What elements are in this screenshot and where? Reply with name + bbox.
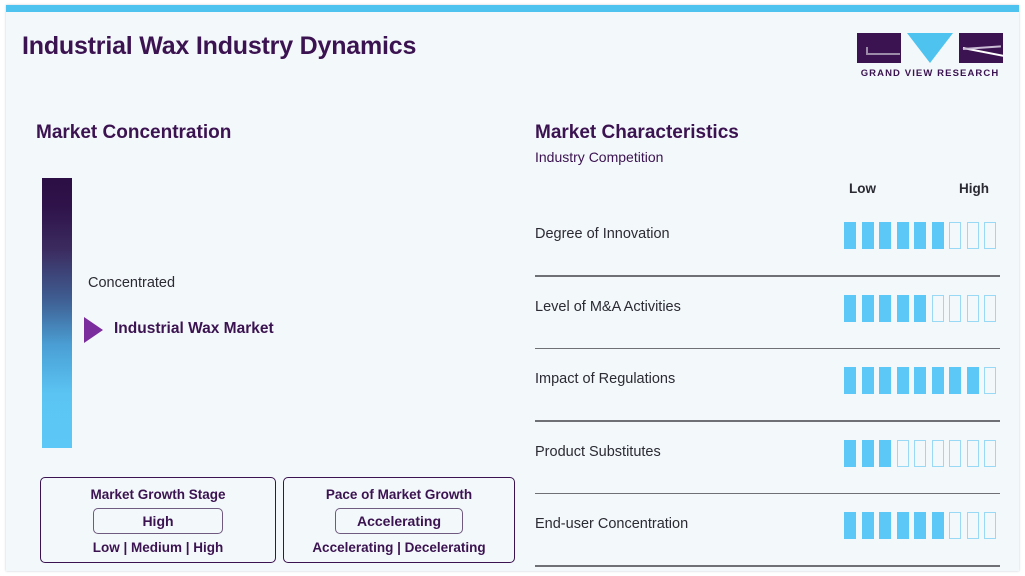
- meter-segment-filled: [862, 440, 874, 467]
- meter-segment-filled: [967, 367, 979, 394]
- characteristic-meter: [844, 440, 996, 467]
- meter-segment-empty: [984, 367, 996, 394]
- logo-block-right-icon: [959, 33, 1003, 63]
- grand-view-research-logo: GRAND VIEW RESEARCH: [857, 33, 1003, 85]
- characteristic-label: Product Substitutes: [535, 444, 661, 460]
- scale-label-concentrated: Concentrated: [88, 275, 175, 291]
- logo-horizontal-line: [866, 53, 900, 55]
- meter-segment-empty: [949, 440, 961, 467]
- market-concentration-panel: Market Concentration Concentrated Fragme…: [6, 100, 516, 571]
- concentration-gradient-scale: [42, 178, 72, 448]
- meter-segment-filled: [897, 367, 909, 394]
- meter-segment-filled: [897, 295, 909, 322]
- meter-segment-empty: [932, 295, 944, 322]
- meter-scale-high-label: High: [959, 181, 989, 196]
- meter-segment-empty: [897, 440, 909, 467]
- meter-segment-empty: [914, 440, 926, 467]
- characteristic-label: Degree of Innovation: [535, 226, 670, 242]
- meter-segment-filled: [879, 222, 891, 249]
- market-growth-stage-value: High: [93, 508, 223, 534]
- characteristic-row: End-user Concentration: [516, 494, 1019, 567]
- pace-of-market-growth-box: Pace of Market Growth Accelerating Accel…: [283, 477, 515, 563]
- meter-segment-filled: [897, 512, 909, 539]
- meter-segment-filled: [914, 512, 926, 539]
- meter-segment-filled: [862, 222, 874, 249]
- market-growth-stage-scale: Low | Medium | High: [41, 540, 275, 555]
- logo-triangle-icon: [907, 33, 953, 63]
- characteristic-row: Degree of Innovation: [516, 204, 1019, 277]
- meter-segment-filled: [932, 512, 944, 539]
- logo-block-left-icon: [857, 33, 901, 63]
- meter-segment-filled: [879, 367, 891, 394]
- meter-segment-filled: [897, 222, 909, 249]
- header: Industrial Wax Industry Dynamics GRAND V…: [6, 12, 1019, 100]
- meter-segment-filled: [844, 440, 856, 467]
- meter-segment-empty: [967, 222, 979, 249]
- meter-segment-empty: [949, 222, 961, 249]
- characteristic-label: End-user Concentration: [535, 516, 688, 532]
- market-characteristics-subtitle: Industry Competition: [535, 149, 663, 165]
- meter-segment-filled: [914, 367, 926, 394]
- logo-marks: [857, 33, 1003, 63]
- meter-scale-low-label: Low: [849, 181, 876, 196]
- market-concentration-title: Market Concentration: [36, 122, 231, 144]
- pace-of-market-growth-scale: Accelerating | Decelerating: [284, 540, 514, 555]
- meter-segment-filled: [844, 367, 856, 394]
- meter-segment-empty: [967, 295, 979, 322]
- meter-segment-filled: [932, 367, 944, 394]
- logo-diagonal-line-secondary: [963, 45, 1001, 50]
- market-characteristics-title: Market Characteristics: [535, 122, 739, 144]
- meter-segment-filled: [844, 512, 856, 539]
- meter-segment-empty: [949, 512, 961, 539]
- characteristic-label: Level of M&A Activities: [535, 299, 681, 315]
- page-title: Industrial Wax Industry Dynamics: [22, 32, 416, 61]
- market-characteristics-panel: Market Characteristics Industry Competit…: [516, 100, 1019, 571]
- characteristic-meter: [844, 512, 996, 539]
- meter-segment-filled: [914, 222, 926, 249]
- pace-of-market-growth-value: Accelerating: [335, 508, 463, 534]
- characteristics-rows: Degree of InnovationLevel of M&A Activit…: [516, 204, 1019, 567]
- meter-segment-empty: [984, 440, 996, 467]
- characteristic-meter: [844, 367, 996, 394]
- characteristic-row: Level of M&A Activities: [516, 277, 1019, 350]
- meter-segment-filled: [844, 222, 856, 249]
- meter-segment-filled: [914, 295, 926, 322]
- infographic-card: Industrial Wax Industry Dynamics GRAND V…: [6, 5, 1019, 571]
- meter-segment-filled: [879, 440, 891, 467]
- meter-segment-filled: [862, 295, 874, 322]
- market-position-marker-icon: [84, 317, 103, 343]
- meter-segment-empty: [984, 295, 996, 322]
- meter-segment-filled: [932, 222, 944, 249]
- meter-segment-filled: [862, 367, 874, 394]
- pace-of-market-growth-heading: Pace of Market Growth: [284, 487, 514, 502]
- characteristic-label: Impact of Regulations: [535, 371, 675, 387]
- meter-segment-empty: [984, 512, 996, 539]
- characteristic-meter: [844, 295, 996, 322]
- meter-segment-empty: [967, 440, 979, 467]
- characteristic-row: Product Substitutes: [516, 422, 1019, 495]
- meter-segment-empty: [932, 440, 944, 467]
- meter-segment-filled: [844, 295, 856, 322]
- meter-segment-filled: [949, 367, 961, 394]
- meter-segment-filled: [879, 512, 891, 539]
- market-position-label: Industrial Wax Market: [114, 320, 274, 338]
- meter-segment-filled: [879, 295, 891, 322]
- row-divider: [535, 565, 1000, 566]
- logo-wordmark: GRAND VIEW RESEARCH: [857, 68, 1003, 79]
- characteristic-row: Impact of Regulations: [516, 349, 1019, 422]
- meter-segment-filled: [862, 512, 874, 539]
- meter-segment-empty: [967, 512, 979, 539]
- market-growth-stage-heading: Market Growth Stage: [41, 487, 275, 502]
- characteristic-meter: [844, 222, 996, 249]
- market-growth-stage-box: Market Growth Stage High Low | Medium | …: [40, 477, 276, 563]
- meter-segment-empty: [984, 222, 996, 249]
- meter-segment-empty: [949, 295, 961, 322]
